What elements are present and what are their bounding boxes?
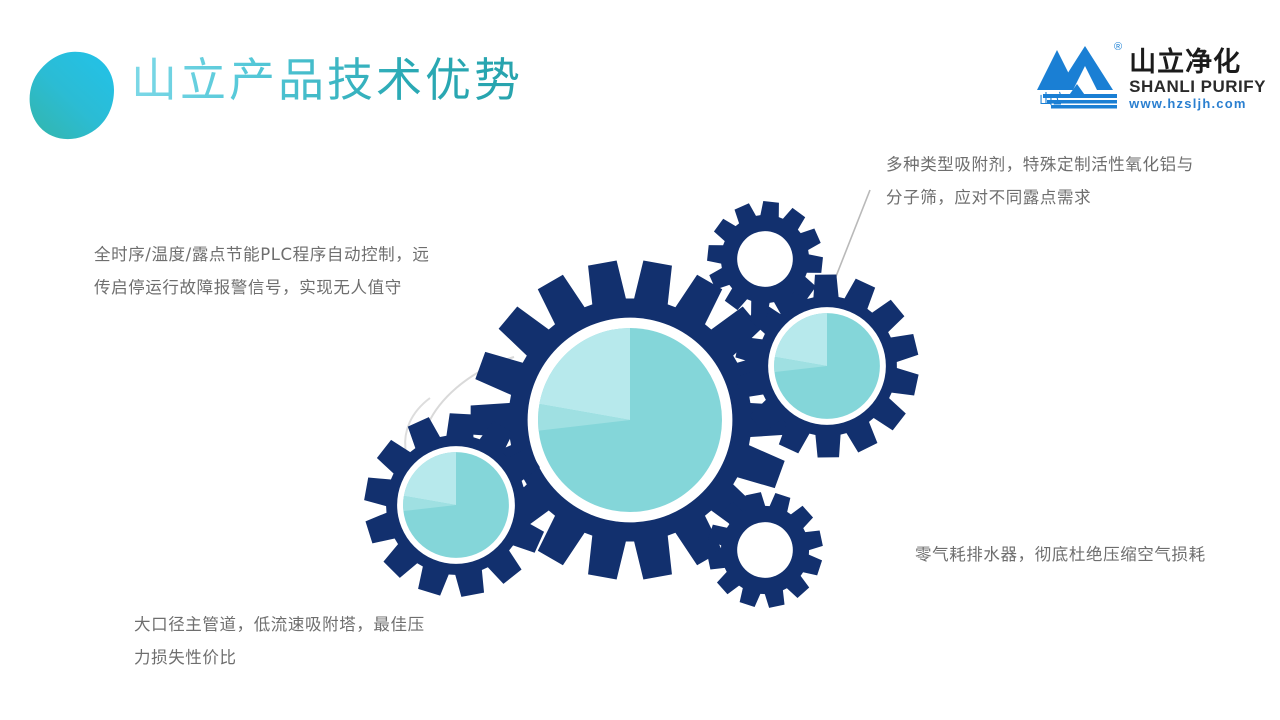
shanli-mark-label-icon: 山立	[1039, 88, 1061, 110]
page-title: 山立产品技术优势	[131, 52, 523, 110]
brand-logo: ® 山立 山立净化 SHANLI PURIFY www.hzsljh.com	[1037, 42, 1266, 112]
gear-bottom-small	[707, 492, 823, 608]
callout-zero-air-loss-drain: 零气耗排水器，彻底杜绝压缩空气损耗	[915, 538, 1235, 571]
decorative-blob-shape	[24, 48, 120, 144]
callout-plc-control: 全时序/温度/露点节能PLC程序自动控制，远传启停运行故障报警信号，实现无人值守	[94, 238, 444, 304]
gear-bottom-small-hole	[737, 522, 793, 578]
logo-company-cn: 山立净化	[1129, 48, 1266, 77]
logo-website: www.hzsljh.com	[1129, 96, 1266, 112]
logo-company-en: SHANLI PURIFY	[1129, 77, 1266, 96]
slide-root: 山立产品技术优势 ® 山立 山立净化 SHANLI PURIFY www.hzs…	[0, 0, 1280, 720]
gear-top-small-hole	[737, 231, 793, 287]
gear-cluster-svg	[330, 160, 970, 640]
callout-adsorbent-types: 多种类型吸附剂，特殊定制活性氧化铝与分子筛，应对不同露点需求	[886, 148, 1206, 214]
shanli-mountain-mark-icon: ® 山立	[1037, 42, 1123, 110]
logo-text-block: 山立净化 SHANLI PURIFY www.hzsljh.com	[1129, 42, 1266, 112]
registered-trademark-symbol: ®	[1114, 42, 1122, 53]
blob-icon	[24, 48, 120, 144]
svg-text:山立: 山立	[1039, 92, 1061, 108]
gear-cluster-graphic	[330, 160, 970, 640]
callout-large-bore-pipe: 大口径主管道，低流速吸附塔，最佳压力损失性价比	[134, 608, 434, 674]
